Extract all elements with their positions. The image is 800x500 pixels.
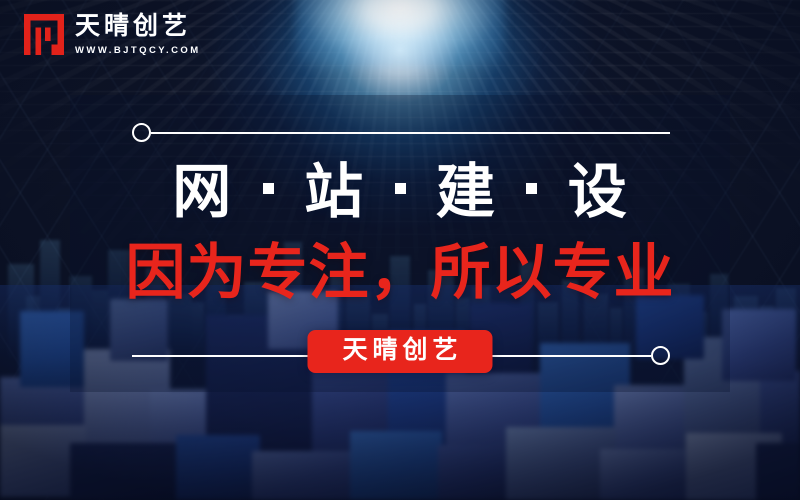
headline-char-2: 站 (304, 159, 364, 225)
headline-char-4: 设 (568, 159, 628, 225)
horizontal-rule (151, 132, 670, 134)
subheadline: 因为专注，所以专业 (0, 243, 800, 303)
tqcy-monogram-icon (24, 14, 64, 55)
headline: 网 站 建 设 (0, 163, 800, 222)
headline-separator-icon (395, 183, 406, 194)
brand-logo[interactable]: 天晴创艺 WWW.BJTQCY.COM (24, 14, 201, 56)
hero-banner: 天晴创艺 WWW.BJTQCY.COM 网 站 建 设 因为专注，所以专业 天晴… (0, 0, 800, 500)
brand-url: WWW.BJTQCY.COM (75, 46, 201, 56)
brand-name: 天晴创艺 (75, 14, 201, 39)
headline-char-3: 建 (436, 159, 496, 225)
decor-rule-top (132, 123, 670, 142)
brand-badge: 天晴创艺 (307, 330, 492, 373)
headline-separator-icon (263, 183, 274, 194)
outline-circle-icon (651, 346, 670, 365)
headline-separator-icon (526, 183, 537, 194)
outline-circle-icon (132, 123, 151, 142)
headline-char-1: 网 (172, 159, 232, 225)
brand-logo-text: 天晴创艺 WWW.BJTQCY.COM (75, 14, 201, 56)
